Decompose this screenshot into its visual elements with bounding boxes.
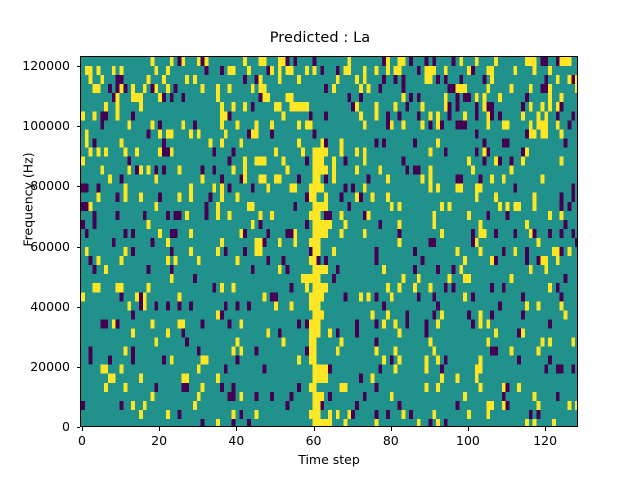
x-tick-label: 40 xyxy=(206,433,266,448)
y-tick-label: 0 xyxy=(0,419,70,434)
x-tick-mark xyxy=(468,427,469,431)
y-tick-label: 80000 xyxy=(0,178,70,193)
y-axis-label: Frequency (Hz) xyxy=(21,80,36,320)
y-tick-mark xyxy=(77,66,81,67)
heatmap-image xyxy=(81,57,578,427)
x-axis-label: Time step xyxy=(80,452,578,467)
y-tick-mark xyxy=(77,186,81,187)
y-tick-label: 20000 xyxy=(0,359,70,374)
y-tick-label: 60000 xyxy=(0,239,70,254)
x-tick-mark xyxy=(236,427,237,431)
x-tick-mark xyxy=(314,427,315,431)
x-tick-mark xyxy=(545,427,546,431)
y-tick-label: 120000 xyxy=(0,58,70,73)
x-tick-mark xyxy=(82,427,83,431)
page-title: Predicted : La xyxy=(0,30,640,46)
x-tick-mark xyxy=(391,427,392,431)
heatmap-axes[interactable] xyxy=(80,56,578,427)
x-tick-label: 100 xyxy=(438,433,498,448)
x-tick-label: 120 xyxy=(515,433,575,448)
x-tick-label: 80 xyxy=(361,433,421,448)
x-tick-label: 0 xyxy=(52,433,112,448)
x-tick-mark xyxy=(159,427,160,431)
x-tick-label: 20 xyxy=(129,433,189,448)
y-tick-mark xyxy=(77,247,81,248)
x-tick-label: 60 xyxy=(284,433,344,448)
y-tick-mark xyxy=(77,126,81,127)
matplotlib-figure: Predicted : La Time step Frequency (Hz) … xyxy=(0,0,640,480)
y-tick-label: 40000 xyxy=(0,299,70,314)
y-tick-mark xyxy=(77,367,81,368)
y-tick-mark xyxy=(77,427,81,428)
y-tick-mark xyxy=(77,307,81,308)
y-tick-label: 100000 xyxy=(0,118,70,133)
